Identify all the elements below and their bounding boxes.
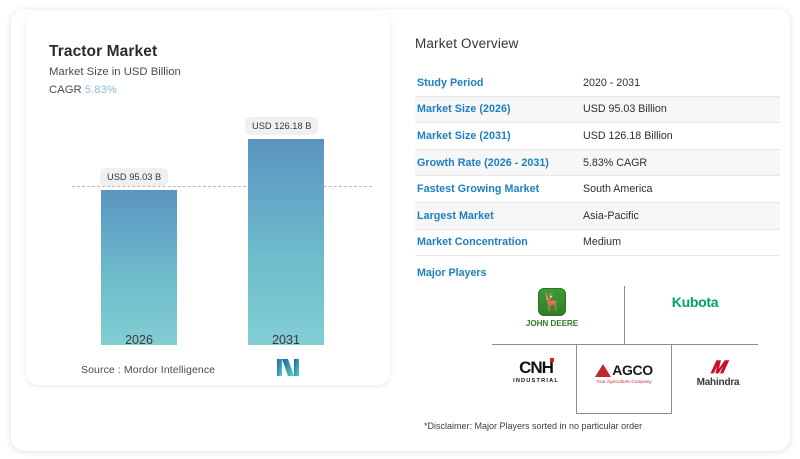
player-logo-agco[interactable]: AGCO Your Agriculture Company: [576, 362, 672, 384]
market-overview-title: Market Overview: [415, 36, 780, 51]
grid-line-horizontal-left: [492, 344, 576, 345]
row-key-growth-rate: Growth Rate (2026 - 2031): [415, 157, 583, 169]
row-key-study-period: Study Period: [415, 77, 583, 89]
disclaimer-text: *Disclaimer: Major Players sorted in no …: [424, 421, 642, 431]
row-key-market-size-2026: Market Size (2026): [415, 103, 583, 115]
x-axis-label-2026: 2026: [101, 333, 177, 347]
chart-header: Tractor Market Market Size in USD Billio…: [49, 42, 181, 99]
table-row: Growth Rate (2026 - 2031) 5.83% CAGR: [415, 150, 780, 177]
row-value-study-period: 2020 - 2031: [583, 77, 640, 89]
table-row: Market Concentration Medium: [415, 230, 780, 257]
table-row: Market Size (2026) USD 95.03 Billion: [415, 97, 780, 124]
row-key-largest-market: Largest Market: [415, 210, 583, 222]
cagr-label: CAGR: [49, 84, 82, 96]
row-key-market-concentration: Market Concentration: [415, 236, 583, 248]
table-row: Study Period 2020 - 2031: [415, 70, 780, 97]
bar-label-2026: USD 95.03 B: [100, 168, 168, 186]
mahindra-swoosh-icon: 𝑴: [666, 360, 770, 376]
agco-triangle-icon: [595, 364, 611, 377]
john-deere-wordmark: JOHN DEERE: [502, 319, 602, 328]
cnh-text-span: CNH: [519, 358, 553, 377]
row-value-market-concentration: Medium: [583, 236, 621, 248]
agco-tagline: Your Agriculture Company: [576, 379, 672, 384]
row-value-market-size-2031: USD 126.18 Billion: [583, 130, 673, 142]
cagr-value: 5.83%: [85, 84, 117, 96]
major-players-label: Major Players: [415, 267, 583, 279]
kubota-wordmark: Kubota: [640, 294, 750, 310]
chart-title: Tractor Market: [49, 42, 181, 62]
table-row: Fastest Growing Market South America: [415, 176, 780, 203]
mordor-intelligence-logo: [277, 359, 299, 381]
infographic-root: Tractor Market Market Size in USD Billio…: [0, 0, 800, 459]
row-key-fastest-growing-market: Fastest Growing Market: [415, 183, 583, 195]
bar-chart-plot: USD 95.03 B USD 126.18 B 2026 2031: [26, 110, 390, 345]
market-overview-panel: Market Overview Study Period 2020 - 2031…: [415, 36, 780, 290]
mahindra-wordmark: Mahindra: [666, 377, 770, 388]
cnh-dot-icon: [550, 358, 554, 362]
source-row: Source : Mordor Intelligence: [26, 355, 390, 385]
row-value-market-size-2026: USD 95.03 Billion: [583, 103, 667, 115]
major-players-logo-grid: 🦌 JOHN DEERE Kubota CNH INDUSTRIAL AGCO …: [480, 286, 770, 414]
player-logo-john-deere[interactable]: 🦌 JOHN DEERE: [502, 288, 602, 328]
grid-line-horizontal-right: [672, 344, 758, 345]
bar-group: USD 95.03 B USD 126.18 B 2026 2031: [26, 110, 390, 345]
agco-wordmark: AGCO: [612, 362, 652, 378]
agco-main: AGCO: [576, 362, 672, 378]
bar-label-2031: USD 126.18 B: [245, 117, 318, 135]
cnh-submark: INDUSTRIAL: [486, 378, 586, 384]
source-text: Source : Mordor Intelligence: [81, 364, 215, 376]
player-logo-kubota[interactable]: Kubota: [640, 294, 750, 310]
chart-cagr: CAGR 5.83%: [49, 82, 181, 99]
deer-glyph: 🦌: [541, 294, 562, 311]
john-deere-icon: 🦌: [538, 288, 566, 316]
player-logo-cnh-industrial[interactable]: CNH INDUSTRIAL: [486, 358, 586, 384]
row-value-fastest-growing-market: South America: [583, 183, 653, 195]
bar-2031[interactable]: [248, 139, 324, 345]
row-key-market-size-2031: Market Size (2031): [415, 130, 583, 142]
table-row: Largest Market Asia-Pacific: [415, 203, 780, 230]
grid-line-vertical-top: [624, 286, 625, 344]
player-logo-mahindra[interactable]: 𝑴 Mahindra: [666, 360, 770, 388]
cnh-wordmark: CNH: [519, 358, 553, 378]
x-axis-label-2031: 2031: [248, 333, 324, 347]
row-value-growth-rate: 5.83% CAGR: [583, 157, 647, 169]
row-value-largest-market: Asia-Pacific: [583, 210, 639, 222]
chart-subtitle: Market Size in USD Billion: [49, 64, 181, 81]
bar-2026[interactable]: [101, 190, 177, 345]
table-row: Market Size (2031) USD 126.18 Billion: [415, 123, 780, 150]
